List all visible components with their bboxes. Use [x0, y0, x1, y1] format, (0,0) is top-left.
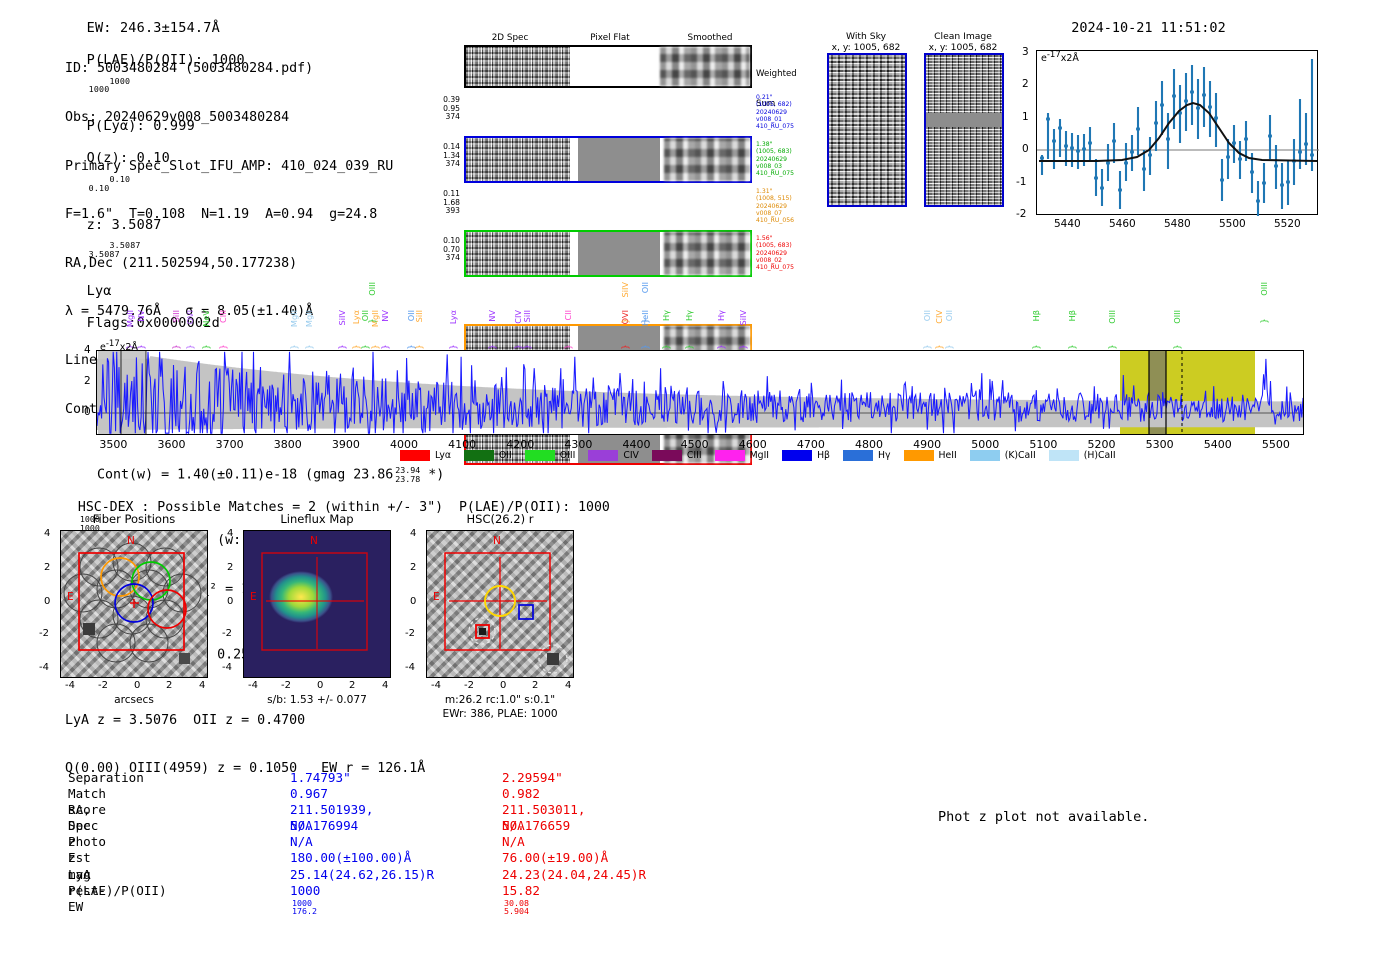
- spectrum-line-bracket: {: [288, 344, 298, 349]
- hsc-ytick: 0: [410, 596, 416, 607]
- spectrum-xtick: 3700: [216, 438, 244, 451]
- spectrum-axes: [96, 350, 1304, 435]
- legend-label: Lyα: [435, 450, 451, 461]
- row-label: Separation: [68, 770, 144, 786]
- spectrum-line-bracket: {: [370, 344, 380, 349]
- legend-item: CIV: [588, 450, 639, 461]
- spectrum-line-bracket: {: [1067, 344, 1077, 349]
- legend-swatch: [464, 450, 494, 461]
- clean-image-coords: x, y: 1005, 682: [918, 42, 1008, 53]
- spectrum-line-label: Hγ: [685, 310, 693, 321]
- clean-image-cutout-panel: Clean Image x, y: 1005, 682: [918, 31, 1008, 207]
- spectrum-xtick: 3800: [274, 438, 302, 451]
- fiber-ytick: 2: [44, 562, 50, 573]
- lineprofile-ytick: -1: [1016, 176, 1026, 188]
- row-label: mag: [68, 867, 91, 883]
- fiber-xtick: 2: [166, 680, 172, 691]
- row-value-match2: 15.8230.085.904: [502, 883, 540, 916]
- legend-item: OIII: [525, 450, 576, 461]
- fiber-row-right-info-3: 1.31" (1008, 515) 20240629 v008_07 410_R…: [756, 188, 794, 224]
- lineflux-ytick: -2: [222, 628, 232, 639]
- legend-label: HeII: [939, 450, 957, 461]
- fiber-row-right-info-2: 1.38" (1005, 683) 20240629 v008_03 410_R…: [756, 141, 794, 177]
- legend-label: MgII: [750, 450, 769, 461]
- legend-swatch: [525, 450, 555, 461]
- legend-item: HeII: [904, 450, 957, 461]
- spectrum-line-label: SiII: [415, 310, 423, 322]
- row-value-match1: 25.14(24.62,26.15)R: [290, 867, 434, 883]
- spectrum-line-label: SiIV: [338, 310, 346, 326]
- row-label: P(LAE)/P(OII): [68, 883, 167, 899]
- spectrum-line-label: Hγ: [662, 310, 670, 321]
- row-value-match1: N/A: [290, 818, 313, 834]
- legend-label: OIII: [560, 450, 576, 461]
- spectrum-line-label: OII: [923, 310, 931, 321]
- lineflux-map-panel: Lineflux Map N E 4 2 0 -2 -4 -4 -2 0 2 4…: [243, 512, 391, 678]
- plae-frac-match2: 30.085.904: [504, 899, 529, 916]
- fiber-ytick: -4: [39, 662, 49, 673]
- hsc-ytick: -4: [405, 662, 415, 673]
- spectrum-line-bracket: {: [185, 344, 195, 349]
- spectrum-line-label: Hγ: [717, 310, 725, 321]
- lineflux-ytick: 2: [227, 562, 233, 573]
- spectrum-units-label: e-17x2Å: [100, 342, 138, 353]
- spectrum-xtick: 3900: [332, 438, 360, 451]
- legend-swatch: [652, 450, 682, 461]
- fiber-ytick: -2: [39, 628, 49, 639]
- spectrum-line-label: CIV: [514, 310, 522, 324]
- with-sky-coords: x, y: 1005, 682: [824, 42, 908, 53]
- line-profile-plot: e-17x2Å: [1036, 50, 1318, 215]
- lineflux-xtick: 4: [382, 680, 388, 691]
- obs-line: Obs: 20240629v008_5003480284: [65, 110, 444, 126]
- hsc-ytick: -2: [405, 628, 415, 639]
- compass-north-label: N: [493, 535, 501, 547]
- id-line: ID: 5003480284 (5003480284.pdf): [65, 61, 444, 77]
- column-header-pixel-flat: Pixel Flat: [560, 33, 660, 43]
- spectrum-line-label: NV: [137, 310, 145, 322]
- legend-label: (K)CaII: [1005, 450, 1036, 461]
- fiber-xtick: 4: [199, 680, 205, 691]
- spectrum-line-label: OIII: [1260, 282, 1268, 296]
- hsc-xtick: -4: [431, 680, 441, 691]
- hsc-ytick: 2: [410, 562, 416, 573]
- with-sky-title: With Sky: [824, 31, 908, 42]
- fiber-row-left-values: 0.14 1.34 374: [430, 143, 460, 169]
- spectrum-line-label: OIII: [1173, 310, 1181, 324]
- spectrum-xtick: 5400: [1204, 438, 1232, 451]
- fiber-strip-1: [464, 136, 752, 183]
- row-value-match2: 2.29594": [502, 770, 563, 786]
- legend-swatch: [843, 450, 873, 461]
- fiber-row-left-values: 0.10 0.70 374: [430, 237, 460, 263]
- spectrum-line-label: NV: [488, 310, 496, 322]
- spectrum-line-bracket: {: [620, 318, 630, 323]
- legend-label: OII: [499, 450, 512, 461]
- fiber-ytick: 0: [44, 596, 50, 607]
- legend-item: Hγ: [843, 450, 891, 461]
- legend-swatch: [715, 450, 745, 461]
- legend-swatch: [782, 450, 812, 461]
- spectrum-line-bracket: {: [738, 344, 748, 349]
- hsc-caption-2: EWr: 386, PLAE: 1000: [414, 708, 586, 721]
- spectrum-line-bracket: {: [1031, 344, 1041, 349]
- spectrum-line-label: OIII: [368, 282, 376, 296]
- spectrum-line-bracket: {: [684, 344, 694, 349]
- spectrum-ytick: 2: [84, 375, 91, 387]
- compass-east-label: E: [67, 591, 74, 603]
- legend-swatch: [970, 450, 1000, 461]
- lineflux-caption: s/b: 1.53 +/- 0.077: [231, 694, 403, 707]
- primary-spec-slot-line: Primary Spec_Slot_IFU_AMP: 410_024_039_R…: [65, 159, 444, 175]
- spectrum-line-label: SiIV: [739, 310, 747, 326]
- legend-swatch: [1049, 450, 1079, 461]
- hsc-xtick: 4: [565, 680, 571, 691]
- fiber-row-right-info-4: 1.56" (1005, 683) 20240629 v008_02 410_R…: [756, 235, 794, 271]
- compass-east-label: E: [433, 591, 440, 603]
- row-value-match2: 0.982: [502, 786, 540, 802]
- twod-spec-panel-group: 2D Spec Pixel Flat Smoothed Weighted Sum…: [460, 33, 748, 264]
- spectrum-line-bracket: {: [337, 344, 347, 349]
- legend-item: (H)CaII: [1049, 450, 1116, 461]
- fiber-strip-2: [464, 230, 752, 277]
- hsc-xtick: -2: [464, 680, 474, 691]
- spectrum-ytick: 4: [84, 344, 91, 356]
- full-spectrum-panel: MgII{NV{SiII{OVI{NeV{CIII{MgII{MgII{SiIV…: [96, 280, 1306, 455]
- spectrum-line-label: OIII: [1108, 310, 1116, 324]
- lineflux-xtick: -2: [281, 680, 291, 691]
- fiber-xtick: 0: [134, 680, 140, 691]
- legend-label: CIII: [687, 450, 702, 461]
- lineflux-map-overlay: [244, 531, 390, 677]
- spectrum-line-bracket: {: [922, 344, 932, 349]
- lineflux-ytick: 4: [227, 528, 233, 539]
- spectrum-line-bracket: {: [660, 344, 670, 349]
- fiber-row-right-info-1: 0.21" (1005, 682) 20240629 v008_01 410_R…: [756, 94, 794, 130]
- column-header-smoothed: Smoothed: [660, 33, 760, 43]
- fiber-ytick: 4: [44, 528, 50, 539]
- spectrum-line-bracket: {: [1259, 318, 1269, 323]
- photz-note: Phot z plot not available.: [938, 809, 1149, 825]
- lya-oii-z-line: LyA z = 3.5076 OII z = 0.4700: [65, 713, 444, 729]
- spectrum-line-label: CIV: [935, 310, 943, 324]
- hsc-r-panel: HSC(26.2) r N E 4 2 0 -2 -4 -4 -2 0 2 4 …: [426, 512, 574, 678]
- spectrum-xtick: 3600: [158, 438, 186, 451]
- legend-swatch: [400, 450, 430, 461]
- spectrum-line-bracket: {: [522, 344, 532, 349]
- spectrum-line-label: CII: [564, 310, 572, 321]
- plae-frac-match1: 1000176.2: [292, 899, 317, 916]
- row-value-match2: 24.23(24.04,24.45)R: [502, 867, 646, 883]
- legend-item: CIII: [652, 450, 702, 461]
- clean-image-title: Clean Image: [918, 31, 1008, 42]
- fiber-xtick: -2: [98, 680, 108, 691]
- line-profile-svg: [1037, 51, 1319, 216]
- line-profile-axes: e-17x2Å: [1036, 50, 1318, 215]
- legend-item: OII: [464, 450, 512, 461]
- spectrum-line-label: OVI: [186, 310, 194, 324]
- lineprofile-ytick: -2: [1016, 208, 1026, 220]
- fiber-row-left-values: 0.11 1.68 393: [430, 190, 460, 216]
- legend-label: (H)CaII: [1084, 450, 1116, 461]
- hsc-r-title: HSC(26.2) r: [426, 512, 574, 526]
- row-value-match1: 180.00(±100.00)Å: [290, 850, 411, 866]
- header-datetime: 2024-10-21 11:51:02: [1071, 20, 1225, 36]
- legend-label: CIV: [623, 450, 639, 461]
- lineprofile-ytick: 3: [1022, 46, 1029, 58]
- with-sky-cutout-panel: With Sky x, y: 1005, 682: [824, 31, 908, 207]
- spectrum-line-bracket: {: [303, 344, 313, 349]
- spectrum-line-bracket: {: [639, 344, 649, 349]
- gmag-frac: 23.9423.78: [395, 466, 420, 483]
- spectrum-line-bracket: {: [170, 344, 180, 349]
- weighted-sum-strip: [464, 45, 752, 88]
- lineflux-xtick: 2: [349, 680, 355, 691]
- radec-line: RA,Dec (211.502594,50.177238): [65, 256, 444, 272]
- spectrum-line-label: NV: [381, 310, 389, 322]
- spectrum-xtick: 5500: [1262, 438, 1290, 451]
- hsc-caption-1: m:26.2 rc:1.0" s:0.1": [414, 694, 586, 707]
- lineflux-map-title: Lineflux Map: [243, 512, 391, 526]
- row-value-match2: N/A: [502, 834, 525, 850]
- spectrum-line-bracket: {: [218, 344, 228, 349]
- lineflux-xtick: 0: [317, 680, 323, 691]
- spectrum-line-label: SiII: [172, 310, 180, 322]
- lineflux-map-image: N E: [243, 530, 391, 678]
- spectrum-svg: [97, 351, 1303, 434]
- spectrum-line-bracket: {: [448, 344, 458, 349]
- column-header-2d-spec: 2D Spec: [460, 33, 560, 43]
- spectrum-line-bracket: {: [1172, 344, 1182, 349]
- hsc-ytick: 4: [410, 528, 416, 539]
- spectrum-line-bracket: {: [933, 344, 943, 349]
- spectrum-line-label: OII: [641, 282, 649, 293]
- fiber-positions-overlay: [61, 531, 207, 677]
- row-value-match1: 0.967: [290, 786, 328, 802]
- legend-label: Hβ: [817, 450, 830, 461]
- spectrum-line-bracket: {: [201, 344, 211, 349]
- spectrum-legend: LyαOIIOIIICIVCIIIMgIIHβHγHeII(K)CaII(H)C…: [400, 450, 1129, 461]
- spectrum-line-bracket: {: [563, 344, 573, 349]
- compass-east-label: E: [250, 591, 257, 603]
- spectrum-line-label: MgII: [290, 310, 298, 327]
- fiber-positions-panel: Fiber Positions N E 4 2 0 -2 -4 -4 -2 0 …: [60, 512, 208, 678]
- spectrum-line-label: CIII: [219, 310, 227, 323]
- clean-image-display: [924, 53, 1004, 207]
- spectrum-line-bracket: {: [716, 344, 726, 349]
- spectrum-line-label: MgII: [126, 310, 134, 327]
- row-value-match1: 10001000176.2: [290, 883, 320, 916]
- spectrum-line-label: OII: [945, 310, 953, 321]
- lineprofile-xtick: 5500: [1219, 218, 1246, 230]
- spectrum-line-bracket: {: [367, 318, 377, 323]
- spectrum-line-label: NeV: [202, 310, 210, 327]
- compass-north-label: N: [310, 535, 318, 547]
- spectrum-xtick: 3500: [99, 438, 127, 451]
- fiber-positions-title: Fiber Positions: [60, 512, 208, 526]
- spectrum-line-bracket: {: [360, 344, 370, 349]
- lineflux-ytick: -4: [222, 662, 232, 673]
- spectrum-line-bracket: {: [487, 344, 497, 349]
- spectrum-ytick: 0: [84, 406, 91, 418]
- spectrum-line-label: SiIV: [621, 282, 629, 298]
- lineprofile-ytick: 2: [1022, 78, 1029, 90]
- fiber-xlabel: arcsecs: [60, 694, 208, 707]
- lineprofile-xtick: 5460: [1109, 218, 1136, 230]
- lineprofile-ytick: 1: [1022, 111, 1029, 123]
- legend-item: Lyα: [400, 450, 451, 461]
- legend-label: Hγ: [878, 450, 891, 461]
- spectrum-line-label: Hβ: [1068, 310, 1076, 321]
- spectrum-line-bracket: {: [620, 344, 630, 349]
- spectrum-line-bracket: {: [639, 318, 649, 323]
- row-value-match1: 1.74793": [290, 770, 351, 786]
- row-value-match2: N/A: [502, 818, 525, 834]
- spectrum-line-label: SiII: [523, 310, 531, 322]
- with-sky-image: [827, 53, 907, 207]
- spectrum-line-bracket: {: [414, 344, 424, 349]
- row-value-match1: N/A: [290, 834, 313, 850]
- compass-north-label: N: [127, 535, 135, 547]
- fiber-row-left-values: 0.39 0.95 374: [430, 96, 460, 122]
- spectrum-xtick: 5300: [1146, 438, 1174, 451]
- hsc-r-image: N E: [426, 530, 574, 678]
- legend-item: (K)CaII: [970, 450, 1036, 461]
- hsc-xtick: 0: [500, 680, 506, 691]
- spectrum-line-bracket: {: [380, 344, 390, 349]
- seeing-throughput-line: F=1.6" T=0.108 N=1.19 A=0.94 g=24.8: [65, 207, 444, 223]
- spectrum-line-bracket: {: [1107, 344, 1117, 349]
- lineprofile-xtick: 5480: [1164, 218, 1191, 230]
- spectrum-line-bracket: {: [944, 344, 954, 349]
- hsc-xtick: 2: [532, 680, 538, 691]
- lineprofile-xtick: 5520: [1274, 218, 1301, 230]
- hsc-r-overlay: [427, 531, 573, 677]
- spectrum-line-label: Hβ: [1032, 310, 1040, 321]
- legend-swatch: [588, 450, 618, 461]
- legend-item: MgII: [715, 450, 769, 461]
- fiber-xtick: -4: [65, 680, 75, 691]
- legend-swatch: [904, 450, 934, 461]
- spectrum-line-label: Lyα: [449, 310, 457, 324]
- legend-item: Hβ: [782, 450, 830, 461]
- spectrum-line-label: MgII: [305, 310, 313, 327]
- fiber-positions-image: N E: [60, 530, 208, 678]
- lineflux-ytick: 0: [227, 596, 233, 607]
- lineprofile-ytick: 0: [1022, 143, 1029, 155]
- lineprofile-xtick: 5440: [1054, 218, 1081, 230]
- lineflux-xtick: -4: [248, 680, 258, 691]
- row-value-match2: 76.00(±19.00)Å: [502, 850, 608, 866]
